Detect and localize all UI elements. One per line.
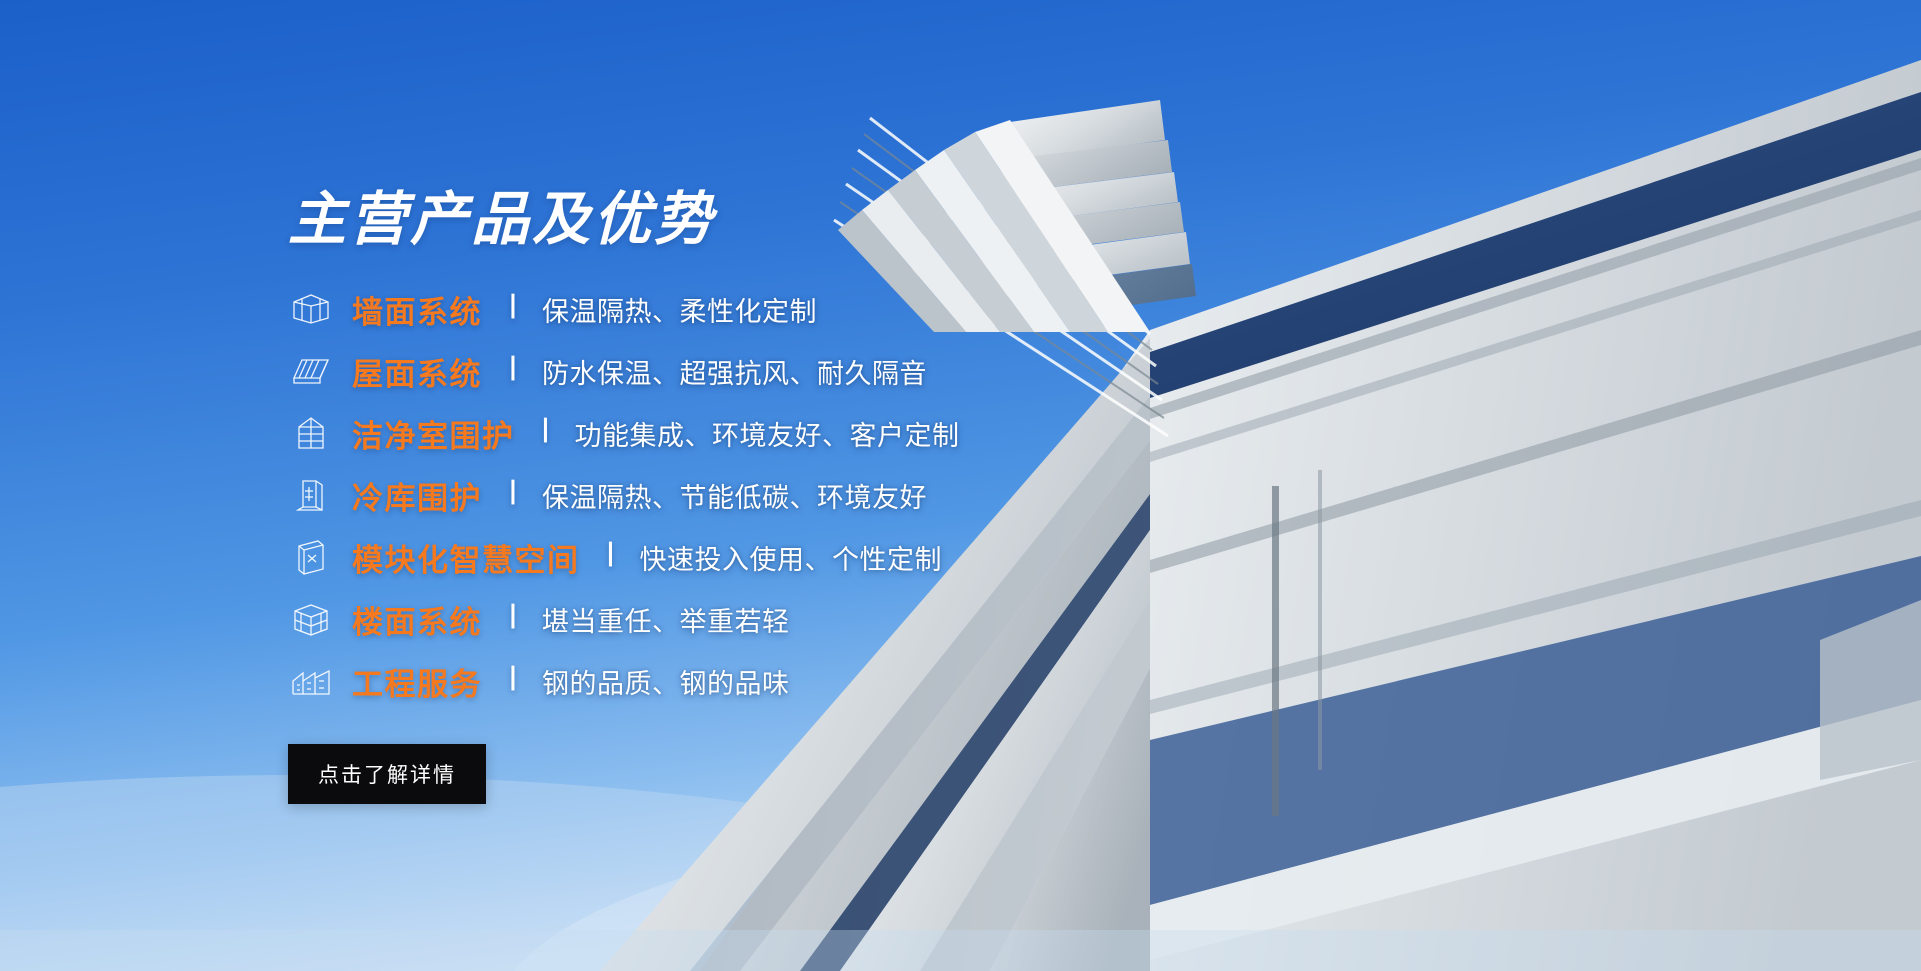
- product-desc: 保温隔热、节能低碳、环境友好: [542, 476, 927, 515]
- product-title: 洁净室围护: [352, 411, 515, 456]
- product-desc: 堪当重任、举重若轻: [542, 600, 790, 639]
- product-list: 墙面系统 丨 保温隔热、柔性化定制 屋面系统 丨 防水保温、超强抗风、耐久隔音: [288, 286, 1188, 704]
- modular-space-icon: [288, 537, 334, 577]
- hero-banner: 主营产品及优势 墙面系统 丨 保温隔热、柔性化定制: [0, 0, 1921, 971]
- roof-system-icon: [288, 351, 334, 391]
- product-row-floor-system[interactable]: 楼面系统 丨 堪当重任、举重若轻: [288, 596, 1188, 642]
- page-title: 主营产品及优势: [288, 190, 1188, 248]
- separator: 丨: [533, 419, 559, 445]
- learn-more-button[interactable]: 点击了解详情: [288, 744, 486, 804]
- product-desc: 功能集成、环境友好、客户定制: [575, 414, 960, 453]
- product-row-cleanroom[interactable]: 洁净室围护 丨 功能集成、环境友好、客户定制: [288, 410, 1188, 456]
- product-row-cold-storage[interactable]: 冷库围护 丨 保温隔热、节能低碳、环境友好: [288, 472, 1188, 518]
- separator: 丨: [500, 357, 526, 383]
- cleanroom-icon: [288, 413, 334, 453]
- coldstorage-icon: [288, 475, 334, 515]
- product-desc: 防水保温、超强抗风、耐久隔音: [542, 352, 927, 391]
- product-desc: 保温隔热、柔性化定制: [542, 290, 817, 329]
- separator: 丨: [500, 667, 526, 693]
- product-title: 楼面系统: [352, 597, 482, 642]
- separator: 丨: [500, 605, 526, 631]
- product-desc: 钢的品质、钢的品味: [542, 662, 790, 701]
- hero-content: 主营产品及优势 墙面系统 丨 保温隔热、柔性化定制: [288, 190, 1188, 804]
- product-title: 工程服务: [352, 659, 482, 704]
- separator: 丨: [500, 295, 526, 321]
- product-row-wall-system[interactable]: 墙面系统 丨 保温隔热、柔性化定制: [288, 286, 1188, 332]
- product-desc: 快速投入使用、个性定制: [640, 538, 943, 577]
- product-row-roof-system[interactable]: 屋面系统 丨 防水保温、超强抗风、耐久隔音: [288, 348, 1188, 394]
- product-row-engineering-service[interactable]: 工程服务 丨 钢的品质、钢的品味: [288, 658, 1188, 704]
- separator: 丨: [500, 481, 526, 507]
- floor-system-icon: [288, 599, 334, 639]
- engineering-service-icon: [288, 661, 334, 701]
- product-title: 冷库围护: [352, 473, 482, 518]
- product-title: 墙面系统: [352, 287, 482, 332]
- product-title: 屋面系统: [352, 349, 482, 394]
- product-row-modular-space[interactable]: 模块化智慧空间 丨 快速投入使用、个性定制: [288, 534, 1188, 580]
- wall-system-icon: [288, 289, 334, 329]
- product-title: 模块化智慧空间: [352, 535, 580, 580]
- separator: 丨: [598, 543, 624, 569]
